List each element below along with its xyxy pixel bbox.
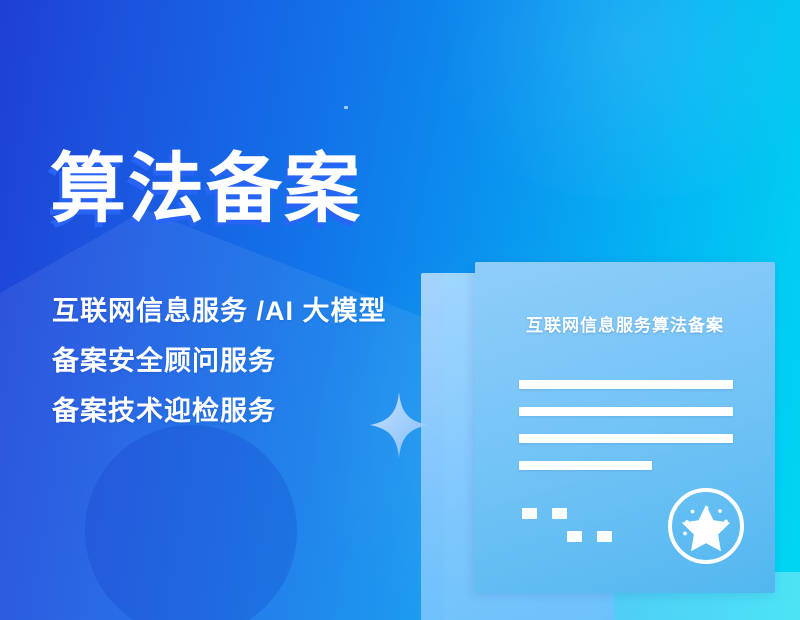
document-small-mark <box>597 531 612 542</box>
star-seal-icon <box>665 485 747 567</box>
subtitle-line-1: 互联网信息服务 /AI 大模型 <box>52 298 452 325</box>
page-title: 算法备案 <box>50 152 362 228</box>
top-glow-shape <box>420 0 800 200</box>
document-small-mark <box>522 508 537 519</box>
document-text-line <box>519 380 733 389</box>
subtitle-line-2: 备案安全顾问服务 <box>52 348 452 375</box>
document-card-title: 互联网信息服务算法备案 <box>475 311 775 336</box>
four-point-sparkle-icon <box>370 392 428 458</box>
document-card-front: 互联网信息服务算法备案 <box>475 262 775 593</box>
document-text-line <box>519 434 733 443</box>
light-speck-dot <box>344 106 348 109</box>
large-blue-circle-shape <box>85 425 297 620</box>
document-text-line <box>519 407 733 416</box>
document-text-line <box>519 461 652 470</box>
document-small-mark <box>552 508 567 519</box>
algorithm-filing-banner: 算法备案 互联网信息服务 /AI 大模型 备案安全顾问服务 备案技术迎检服务 互… <box>0 0 800 620</box>
document-text-lines <box>519 380 733 488</box>
document-small-mark <box>567 531 582 542</box>
